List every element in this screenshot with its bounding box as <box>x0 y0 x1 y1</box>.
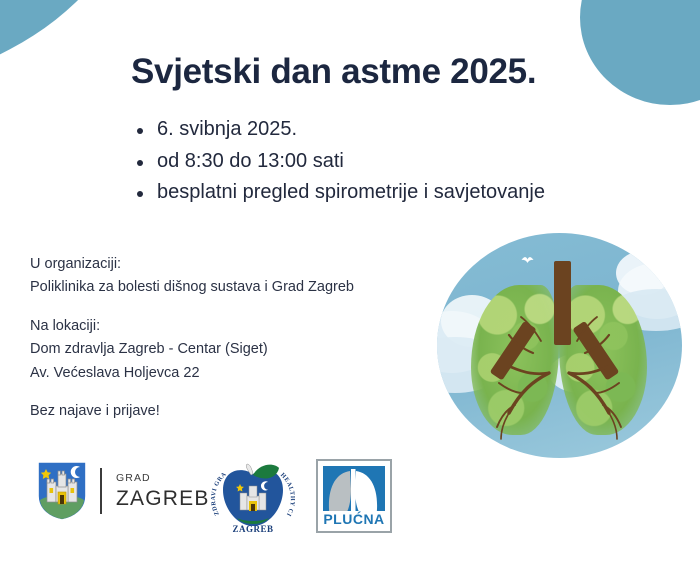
organizer-label: U organizaciji: <box>30 256 121 272</box>
location-line-1: Dom zdravlja Zagreb - Centar (Siget) <box>30 341 268 357</box>
grad-zagreb-wordmark: GRAD ZAGREB <box>116 473 210 510</box>
decorative-blob-top-right-icon <box>580 0 700 105</box>
page-title: Svjetski dan astme 2025. <box>131 53 536 92</box>
plucna-clinic-icon: PLUĆNA <box>316 459 392 533</box>
decorative-blob-top-left-icon <box>0 0 145 90</box>
location-label: Na lokaciji: <box>30 318 100 334</box>
list-item: od 8:30 do 13:00 sati <box>133 146 545 178</box>
list-item: 6. svibnja 2025. <box>133 114 545 146</box>
plucna-wordmark: PLUĆNA <box>323 510 384 527</box>
logo-divider <box>100 468 102 514</box>
organizer-paragraph: U organizaciji: Poliklinika za bolesti d… <box>30 253 354 300</box>
logo-line-zagreb: ZAGREB <box>116 488 210 509</box>
note-text: Bez najave i prijave! <box>30 403 160 419</box>
zagreb-healthy-city-apple-icon: ZDRAVI GRAD HEALTHY CITY ZAGREB <box>207 460 299 534</box>
location-line-2: Av. Većeslava Holjevca 22 <box>30 365 200 381</box>
body-text-block: U organizaciji: Poliklinika za bolesti d… <box>30 253 354 424</box>
branch-network <box>437 233 682 458</box>
list-item: besplatni pregled spirometrije i savjeto… <box>133 177 545 209</box>
note-paragraph: Bez najave i prijave! <box>30 400 354 423</box>
organizer-value: Poliklinika za bolesti dišnog sustava i … <box>30 279 354 295</box>
poster-canvas: Svjetski dan astme 2025. 6. svibnja 2025… <box>0 0 700 587</box>
svg-text:ZAGREB: ZAGREB <box>232 524 273 534</box>
lungs-tree-illustration <box>437 233 682 458</box>
logo-grad-zagreb: GRAD ZAGREB <box>36 460 210 522</box>
location-paragraph: Na lokaciji: Dom zdravlja Zagreb - Centa… <box>30 315 354 385</box>
zagreb-coat-of-arms-icon <box>36 460 88 522</box>
logo-row: GRAD ZAGREB ZDRA <box>0 456 420 538</box>
logo-line-grad: GRAD <box>116 473 210 484</box>
event-details-list: 6. svibnja 2025. od 8:30 do 13:00 sati b… <box>133 114 545 209</box>
